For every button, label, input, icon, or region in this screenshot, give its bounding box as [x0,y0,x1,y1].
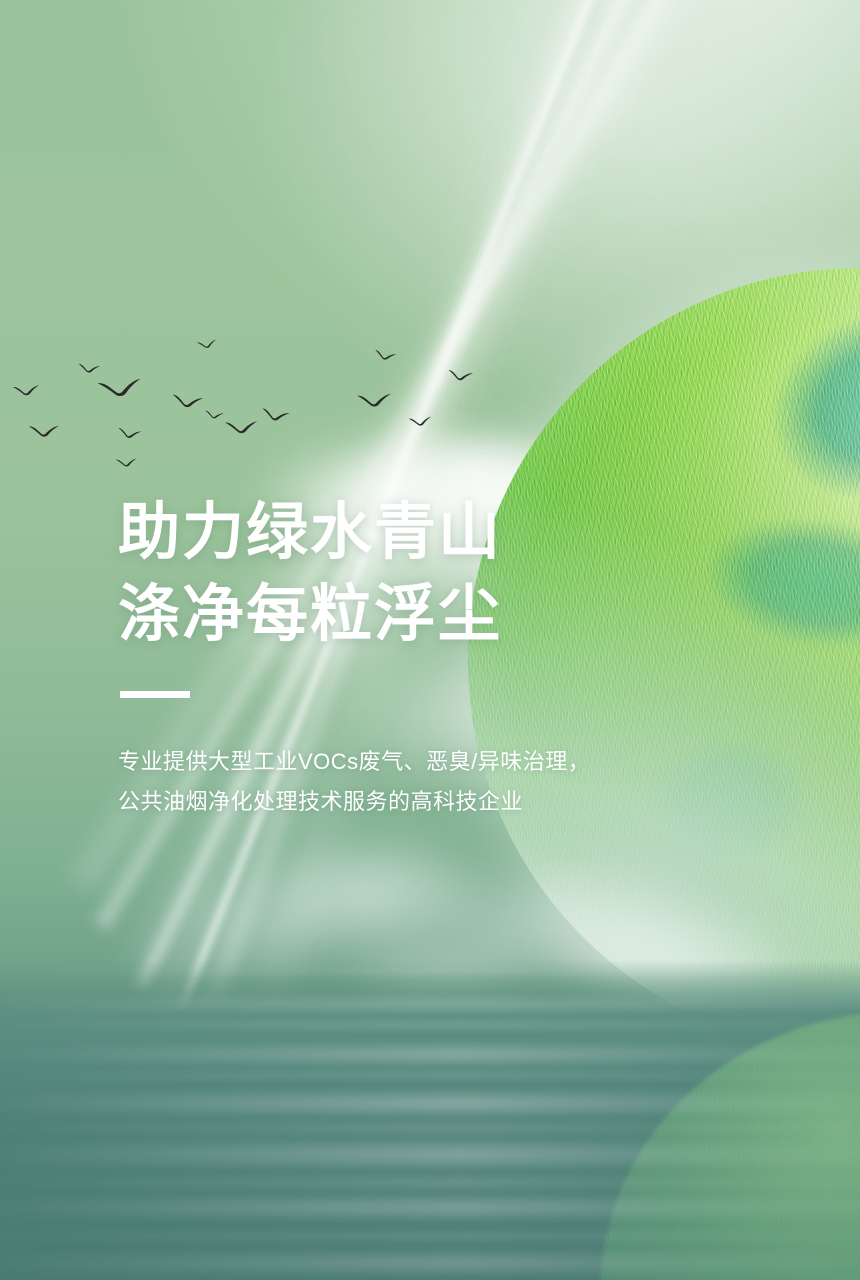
bird-icon-10 [260,406,291,425]
bird-icon-9 [224,418,260,438]
bird-icon-3 [96,374,145,403]
bird-icon-8 [204,409,225,421]
headline-line-2: 涤净每粒浮尘 [118,574,678,656]
bird-icon-5 [28,422,61,440]
eco-banner-poster: 助力绿水青山 涤净每粒浮尘 专业提供大型工业VOCs废气、恶臭/异味治理， 公共… [0,0,860,1280]
banner-content: 助力绿水青山 涤净每粒浮尘 专业提供大型工业VOCs废气、恶臭/异味治理， 公共… [118,492,678,822]
subtitle-line-2: 公共油烟净化处理技术服务的高科技企业 [118,782,678,822]
bird-icon-7 [196,337,218,351]
title-divider [120,691,190,698]
bird-icon-11 [356,390,393,411]
headline-line-1: 助力绿水青山 [118,492,678,574]
bird-icon-12 [373,348,398,363]
subtitle: 专业提供大型工业VOCs废气、恶臭/异味治理， 公共油烟净化处理技术服务的高科技… [118,742,678,822]
bird-icon-2 [77,362,101,375]
bird-icon-6 [116,426,142,441]
bird-icon-1 [12,382,41,399]
bird-icon-15 [115,456,138,469]
page-title: 助力绿水青山 涤净每粒浮尘 [118,492,678,656]
bird-icon-4 [171,392,205,411]
cloud-7 [240,835,500,955]
bird-icon-14 [447,368,474,383]
bird-icon-13 [408,414,433,429]
subtitle-line-1: 专业提供大型工业VOCs废气、恶臭/异味治理， [118,742,678,782]
